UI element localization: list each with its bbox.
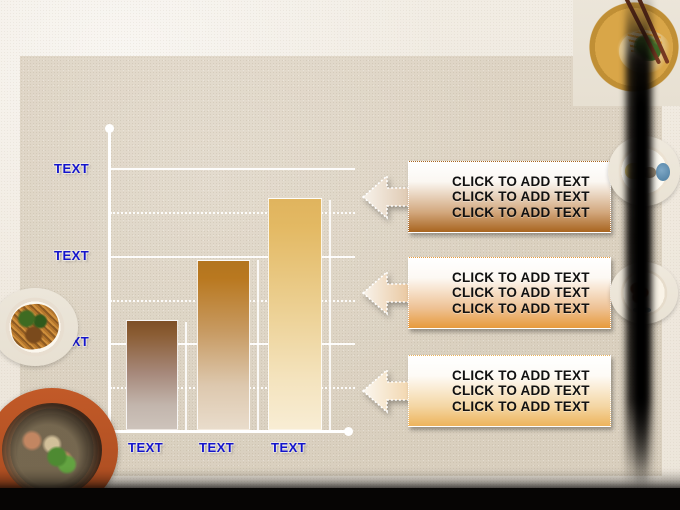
callout-3-box[interactable]: CLICK TO ADD TEXT CLICK TO ADD TEXT CLIC…	[408, 355, 611, 427]
bar-separator-3	[329, 200, 331, 430]
callout-1-box[interactable]: CLICK TO ADD TEXT CLICK TO ADD TEXT CLIC…	[408, 161, 611, 233]
callout-1-line-1: CLICK TO ADD TEXT	[452, 174, 610, 190]
callout-1-line-2: CLICK TO ADD TEXT	[452, 189, 610, 205]
callout-2-line-2: CLICK TO ADD TEXT	[452, 285, 610, 301]
y-axis-label-1: TEXT	[54, 161, 89, 176]
callout-3-line-3: CLICK TO ADD TEXT	[452, 399, 610, 415]
callout-1[interactable]: CLICK TO ADD TEXT CLICK TO ADD TEXT CLIC…	[361, 161, 611, 233]
bar-1[interactable]	[126, 320, 178, 430]
ink-band-vertical-core	[635, 20, 647, 490]
y-axis-label-2: TEXT	[54, 248, 89, 263]
x-axis-line	[108, 430, 348, 433]
x-axis-label-1: TEXT	[128, 440, 163, 455]
side-dish-blue	[656, 163, 670, 181]
callout-2-line-3: CLICK TO ADD TEXT	[452, 301, 610, 317]
bar-separator-2	[257, 260, 259, 430]
callout-2[interactable]: CLICK TO ADD TEXT CLICK TO ADD TEXT CLIC…	[361, 257, 611, 329]
callout-3-line-1: CLICK TO ADD TEXT	[452, 368, 610, 384]
callout-3-line-2: CLICK TO ADD TEXT	[452, 383, 610, 399]
slide-canvas: TEXT TEXT TEXT TEXT TEXT TEXT CLICK TO A…	[0, 0, 680, 510]
bar-2[interactable]	[197, 260, 250, 430]
ink-stroke-bottom-solid	[0, 488, 680, 510]
x-axis-label-2: TEXT	[199, 440, 234, 455]
callout-1-line-3: CLICK TO ADD TEXT	[452, 205, 610, 221]
bar-separator-1	[185, 322, 187, 430]
x-axis-label-3: TEXT	[271, 440, 306, 455]
bars-container	[110, 130, 355, 430]
salad	[8, 300, 62, 351]
callout-2-line-1: CLICK TO ADD TEXT	[452, 270, 610, 286]
callout-2-box[interactable]: CLICK TO ADD TEXT CLICK TO ADD TEXT CLIC…	[408, 257, 611, 329]
callout-3[interactable]: CLICK TO ADD TEXT CLICK TO ADD TEXT CLIC…	[361, 355, 611, 427]
bar-3[interactable]	[268, 198, 322, 430]
